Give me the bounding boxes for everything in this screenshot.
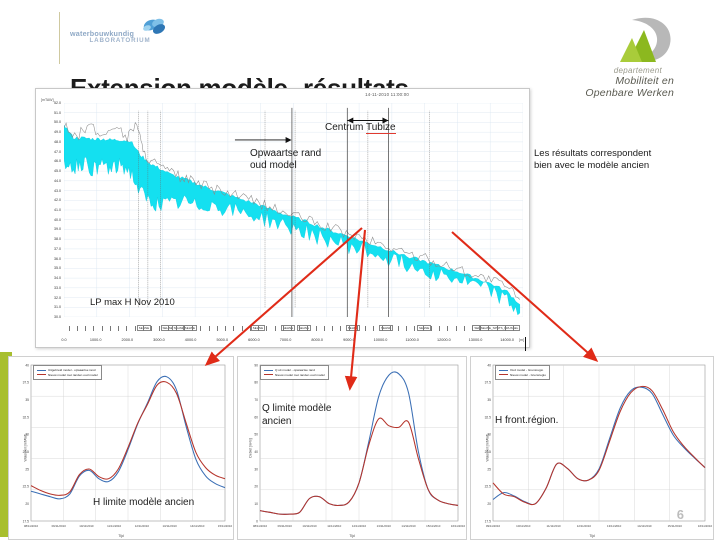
mini-chart-x-tick: 09/11/2010	[486, 524, 501, 528]
annotation-opwaartse-rand: Opwaartse rand oud model	[250, 148, 321, 172]
main-chart-y-tick: 48.0	[37, 140, 61, 144]
main-chart-y-tick: 31.0	[37, 305, 61, 309]
annotation-tubize-text: Tubize	[366, 122, 396, 134]
mobiliteit-openbare-werken-logo: departement Mobiliteit en Openbare Werke…	[566, 14, 694, 94]
mini-chart-h-limite: 4037.53532.53027.52522.52017.508/11/2010…	[8, 356, 234, 540]
mini-chart-x-tick: 11/11/2010	[547, 524, 561, 528]
mini-chart-q-limite: 908070605040302010008/11/201009/11/20101…	[237, 356, 467, 540]
mini-chart-y-tick: 35	[25, 398, 29, 402]
main-chart-y-tick: 36.0	[37, 257, 61, 261]
main-chart-y-tick: 49.0	[37, 130, 61, 134]
main-chart-y-tick: 52.0	[37, 101, 61, 105]
main-chart-x-tick: 8000.0	[311, 338, 323, 342]
main-chart-y-tick: 46.0	[37, 159, 61, 163]
main-chart-x-tick: 14000.0	[500, 338, 514, 342]
header-divider-rule	[59, 12, 60, 64]
mini-chart-1-label-line2: ancien	[262, 416, 331, 429]
main-chart-y-tick: 40.0	[37, 218, 61, 222]
results-note: Les résultats correspondent bien avec le…	[534, 148, 714, 172]
mini-chart-x-tick: 16/11/2010	[698, 524, 713, 528]
mini-chart-y-tick: 60	[254, 415, 258, 419]
main-chart-x-tick: 13000.0	[469, 338, 483, 342]
main-chart-branch-label: SEHNE	[137, 325, 151, 331]
mini-chart-y-tick: 90	[254, 363, 258, 367]
main-chart-y-tick: 39.0	[37, 227, 61, 231]
mini-chart-x-tick: 15/11/2010	[218, 524, 233, 528]
mini-chart-x-tick: 12/11/2010	[135, 524, 150, 528]
mini-chart-y-tick: 40	[254, 450, 258, 454]
main-chart-x-tick: 3000.0	[153, 338, 165, 342]
legend-label: Nieuw model met randen oud model	[48, 373, 98, 378]
main-chart-x-tick: 0.0	[61, 338, 66, 342]
results-note-line1: Les résultats correspondent	[534, 148, 714, 160]
mini-chart-y-tick: 40	[25, 363, 29, 367]
text-cursor-bar	[525, 337, 526, 351]
mini-chart-y-tick: 10	[254, 502, 258, 506]
mini-chart-x-tick: 10/11/2010	[79, 524, 94, 528]
logo-left-line2: LABORATORIUM	[78, 37, 162, 44]
legend-swatch-blue-icon	[37, 370, 46, 371]
main-chart-y-tick: 34.0	[37, 276, 61, 280]
mini-chart-2-y-title: Waterpeil [mTAW]	[486, 435, 490, 462]
mini-chart-1-y-title: Debiet [m³/s]	[249, 438, 253, 457]
mini-chart-x-tick: 15/11/2010	[668, 524, 683, 528]
main-chart-y-tick: 44.0	[37, 179, 61, 183]
mini-chart-y-tick: 25	[25, 467, 29, 471]
mini-chart-x-tick: 10/11/2010	[516, 524, 531, 528]
mini-chart-y-tick: 40	[487, 363, 491, 367]
mini-chart-0-svg: 4037.53532.53027.52522.52017.508/11/2010…	[9, 357, 233, 539]
mini-chart-y-tick: 17.5	[485, 519, 492, 523]
main-chart-y-tick: 51.0	[37, 111, 61, 115]
mini-chart-y-tick: 0	[256, 519, 258, 523]
mini-chart-0-y-title: Waterpeil [mTAW]	[24, 435, 28, 462]
mini-chart-y-tick: 37.5	[23, 381, 30, 385]
main-chart-y-tick: 41.0	[37, 208, 61, 212]
main-chart-y-tick: 43.0	[37, 189, 61, 193]
legend-label: Nieuw model met randen oud model	[275, 373, 325, 378]
mini-chart-y-tick: 32.5	[23, 415, 30, 419]
mini-chart-y-tick: 70	[254, 398, 258, 402]
main-chart-y-tick: 50.0	[37, 120, 61, 124]
mini-chart-y-tick: 50	[254, 433, 258, 437]
mini-chart-x-tick: 14/11/2010	[401, 524, 416, 528]
main-chart-svg	[64, 103, 523, 317]
mini-chart-0-x-title: Tijd	[118, 534, 123, 538]
mini-chart-x-tick: 16/11/2010	[451, 524, 466, 528]
main-chart-y-tick: 38.0	[37, 237, 61, 241]
main-chart-branch-label: SEHNE	[417, 325, 431, 331]
legend-swatch-red-icon	[499, 374, 508, 375]
main-chart-x-tick: 12000.0	[437, 338, 451, 342]
annotation-centrum-text: Centrum	[325, 122, 366, 133]
legend-swatch-blue-icon	[264, 370, 273, 371]
main-chart-x-tick: 7000.0	[280, 338, 292, 342]
main-chart-y-tick: 30.0	[37, 315, 61, 319]
main-chart-y-tick: 45.0	[37, 169, 61, 173]
mow-triangle-circle-icon	[598, 14, 676, 71]
chart-timestamp: 14-11-2010 11:00:00	[365, 92, 409, 97]
mini-chart-y-tick: 22.5	[23, 485, 30, 489]
annotation-centrum-tubize: Centrum Tubize	[325, 122, 396, 133]
main-chart-y-tick: 47.0	[37, 150, 61, 154]
main-chart-x-tick: 4000.0	[185, 338, 197, 342]
mini-chart-x-tick: 14/11/2010	[190, 524, 205, 528]
mini-chart-y-tick: 35	[487, 398, 491, 402]
main-chart-x-tick: 5000.0	[216, 338, 228, 342]
annotation-opwaartse-line1: Opwaartse rand	[250, 148, 321, 160]
mini-chart-1-legend: Q uit model - opwaartse rand Nieuw model…	[260, 365, 329, 380]
main-chart-y-tick: 42.0	[37, 198, 61, 202]
mini-chart-y-tick: 80	[254, 381, 258, 385]
main-chart-x-tick: 1000.0	[90, 338, 102, 342]
mini-chart-1-label: Q limite modèle ancien	[262, 403, 331, 428]
legend-swatch-red-icon	[37, 374, 46, 375]
chart-x-unit: [m]	[519, 338, 524, 342]
mini-chart-2-x-title: Tijd	[589, 534, 594, 538]
mini-chart-y-tick: 37.5	[485, 381, 492, 385]
page-number: 6	[677, 507, 684, 522]
main-chart-x-tick: 6000.0	[248, 338, 260, 342]
mini-chart-2-legend: Oud model - Grensregio Nieuw model - Gre…	[495, 365, 550, 380]
main-longitudinal-profile-chart: 14-11-2010 11:00:00 [mTAW] [m] 52.051.05…	[35, 88, 530, 348]
main-chart-y-tick: 35.0	[37, 266, 61, 270]
mini-chart-x-tick: 12/11/2010	[577, 524, 592, 528]
mini-chart-x-tick: 13/11/2010	[377, 524, 392, 528]
results-note-line2: bien avec le modèle ancien	[534, 160, 714, 172]
main-chart-y-tick: 37.0	[37, 247, 61, 251]
mini-chart-0-label: H limite modèle ancien	[93, 497, 194, 510]
mini-chart-x-tick: 11/11/2010	[327, 524, 341, 528]
logo-right-line2: Openbare Werken	[585, 87, 674, 99]
legend-row: Nieuw model met randen oud model	[264, 373, 325, 378]
mini-chart-x-tick: 09/11/2010	[52, 524, 67, 528]
mini-chart-1-x-title: Tijd	[349, 534, 354, 538]
mini-chart-y-tick: 32.5	[485, 415, 492, 419]
mini-chart-x-tick: 11/11/2010	[107, 524, 121, 528]
mini-chart-1-svg: 908070605040302010008/11/201009/11/20101…	[238, 357, 466, 539]
mini-chart-x-tick: 09/11/2010	[278, 524, 293, 528]
mini-chart-0-legend: Uitgebreid model - opwaartse rand Nieuw …	[33, 365, 102, 380]
legend-swatch-red-icon	[264, 374, 273, 375]
main-chart-y-tick: 33.0	[37, 286, 61, 290]
logo-right-departement: departement	[614, 66, 662, 75]
annotation-lp-max-h: LP max H Nov 2010	[90, 297, 175, 308]
mini-chart-y-tick: 20	[254, 485, 258, 489]
main-chart-x-tick: 11000.0	[405, 338, 418, 342]
mini-chart-x-tick: 10/11/2010	[302, 524, 317, 528]
legend-row: Nieuw model - Grensregio	[499, 373, 546, 378]
mini-chart-x-tick: 13/11/2010	[607, 524, 622, 528]
main-chart-x-tick: 2000.0	[121, 338, 133, 342]
legend-row: Nieuw model met randen oud model	[37, 373, 98, 378]
legend-label: Nieuw model - Grensregio	[510, 373, 546, 378]
main-chart-y-tick: 32.0	[37, 296, 61, 300]
mini-chart-y-tick: 20	[487, 502, 491, 506]
mini-chart-x-tick: 08/11/2010	[24, 524, 39, 528]
mini-chart-2-label: H front.région.	[495, 415, 558, 428]
mini-chart-y-tick: 22.5	[485, 485, 492, 489]
mini-chart-x-tick: 13/11/2010	[162, 524, 177, 528]
main-chart-x-tick: 10000.0	[374, 338, 388, 342]
mini-chart-y-tick: 30	[254, 467, 258, 471]
mini-chart-x-tick: 12/11/2010	[352, 524, 367, 528]
mini-chart-y-tick: 17.5	[23, 519, 30, 523]
main-chart-plot-area	[64, 103, 523, 317]
mini-chart-1-label-line1: Q limite modèle	[262, 403, 331, 416]
legend-swatch-blue-icon	[499, 370, 508, 371]
mini-chart-y-tick: 25	[487, 467, 491, 471]
mini-chart-x-tick: 15/11/2010	[426, 524, 441, 528]
annotation-opwaartse-line2: oud model	[250, 160, 321, 172]
slide-root: waterbouwkundig LABORATORIUM Extension m…	[0, 0, 720, 540]
mini-chart-y-tick: 20	[25, 502, 29, 506]
main-chart-x-tick: 9000.0	[343, 338, 355, 342]
mini-chart-x-tick: 14/11/2010	[637, 524, 652, 528]
waterbouwkundig-laboratorium-logo: waterbouwkundig LABORATORIUM	[70, 18, 170, 48]
logo-right-line1: Mobiliteit en	[615, 75, 674, 87]
mini-chart-x-tick: 08/11/2010	[253, 524, 268, 528]
